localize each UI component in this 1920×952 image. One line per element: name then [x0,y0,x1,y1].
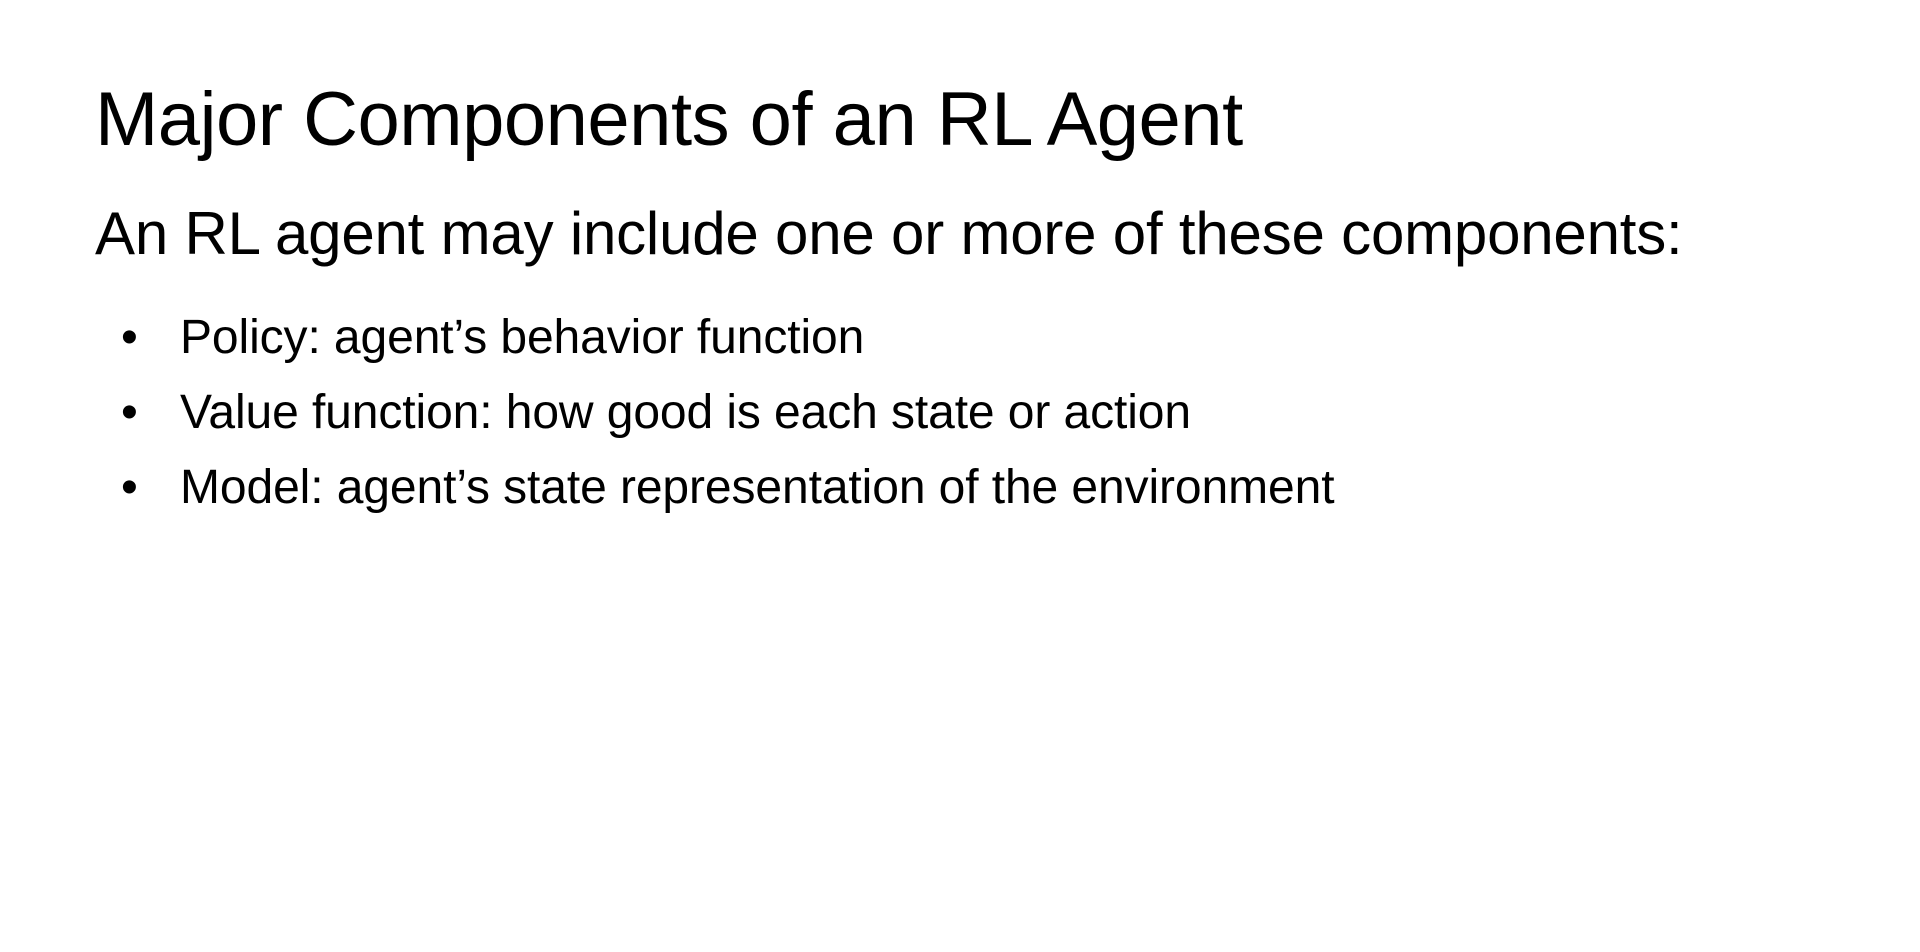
list-item-label: Value function: how good is each state o… [180,389,1191,437]
list-item: • Model: agent’s state representation of… [95,464,1715,512]
component-bullet-list: • Policy: agent’s behavior function • Va… [95,314,1715,512]
page-title: Major Components of an RL Agent [95,79,1795,161]
list-item-label: Policy: agent’s behavior function [180,314,864,362]
bullet-point-icon: • [121,464,151,512]
slide-canvas: Major Components of an RL Agent An RL ag… [0,0,1920,952]
lead-paragraph: An RL agent may include one or more of t… [95,196,1685,272]
bullet-point-icon: • [121,389,151,437]
list-item: • Policy: agent’s behavior function [95,314,1715,362]
list-item-label: Model: agent’s state representation of t… [180,464,1334,512]
bullet-point-icon: • [121,314,151,362]
slide-body: An RL agent may include one or more of t… [95,196,1715,512]
list-item: • Value function: how good is each state… [95,389,1715,437]
